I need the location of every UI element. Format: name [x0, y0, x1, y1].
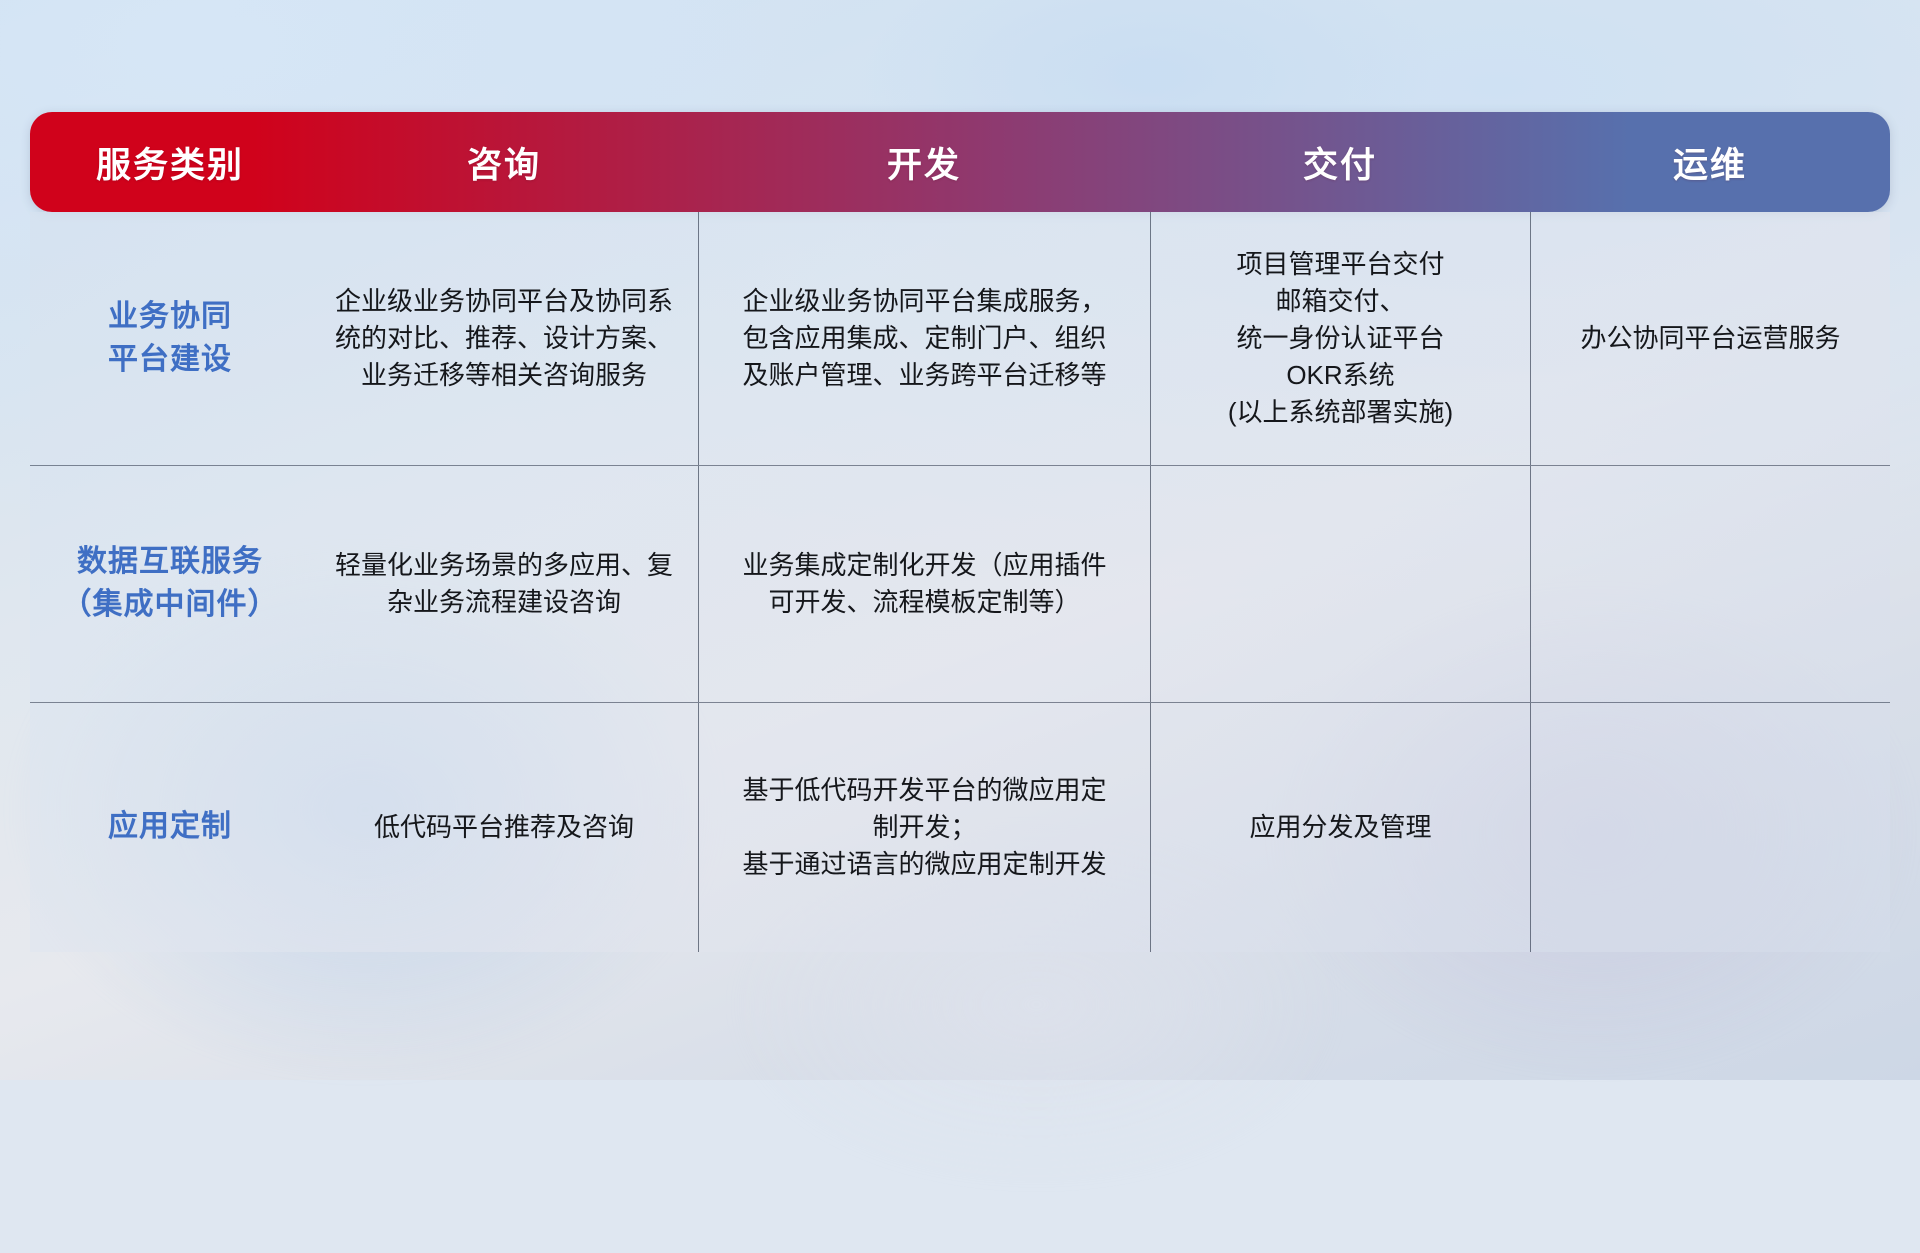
- cell-consulting: 企业级业务协同平台及协同系 统的对比、推荐、设计方案、 业务迁移等相关咨询服务: [310, 212, 698, 465]
- column-header-category: 服务类别: [30, 112, 310, 212]
- cell-operations: 办公协同平台运营服务: [1530, 212, 1890, 465]
- table-row: 业务协同 平台建设 企业级业务协同平台及协同系 统的对比、推荐、设计方案、 业务…: [30, 212, 1890, 465]
- cell-delivery: 项目管理平台交付 邮箱交付、 统一身份认证平台 OKR系统 (以上系统部署实施): [1150, 212, 1530, 465]
- column-header-consulting: 咨询: [310, 112, 698, 212]
- cell-operations: [1530, 466, 1890, 702]
- row-category-label: 应用定制: [30, 703, 310, 952]
- table-row: 应用定制 低代码平台推荐及咨询 基于低代码开发平台的微应用定 制开发； 基于通过…: [30, 702, 1890, 952]
- column-header-development: 开发: [698, 112, 1150, 212]
- table-body: 业务协同 平台建设 企业级业务协同平台及协同系 统的对比、推荐、设计方案、 业务…: [30, 212, 1890, 952]
- table-header-row: 服务类别 咨询 开发 交付 运维: [30, 112, 1890, 212]
- cell-development: 业务集成定制化开发（应用插件 可开发、流程模板定制等）: [698, 466, 1150, 702]
- table-row: 数据互联服务 （集成中间件） 轻量化业务场景的多应用、复 杂业务流程建设咨询 业…: [30, 465, 1890, 702]
- row-category-label: 业务协同 平台建设: [30, 212, 310, 465]
- cell-consulting: 低代码平台推荐及咨询: [310, 703, 698, 952]
- cell-development: 基于低代码开发平台的微应用定 制开发； 基于通过语言的微应用定制开发: [698, 703, 1150, 952]
- row-category-label: 数据互联服务 （集成中间件）: [30, 466, 310, 702]
- cell-development: 企业级业务协同平台集成服务， 包含应用集成、定制门户、组织 及账户管理、业务跨平…: [698, 212, 1150, 465]
- column-header-operations: 运维: [1530, 112, 1890, 212]
- cell-consulting: 轻量化业务场景的多应用、复 杂业务流程建设咨询: [310, 466, 698, 702]
- cell-delivery: 应用分发及管理: [1150, 703, 1530, 952]
- column-header-delivery: 交付: [1150, 112, 1530, 212]
- service-matrix-table: 服务类别 咨询 开发 交付 运维 业务协同 平台建设 企业级业务协同平台及协同系…: [30, 112, 1890, 952]
- cell-operations: [1530, 703, 1890, 952]
- cell-delivery: [1150, 466, 1530, 702]
